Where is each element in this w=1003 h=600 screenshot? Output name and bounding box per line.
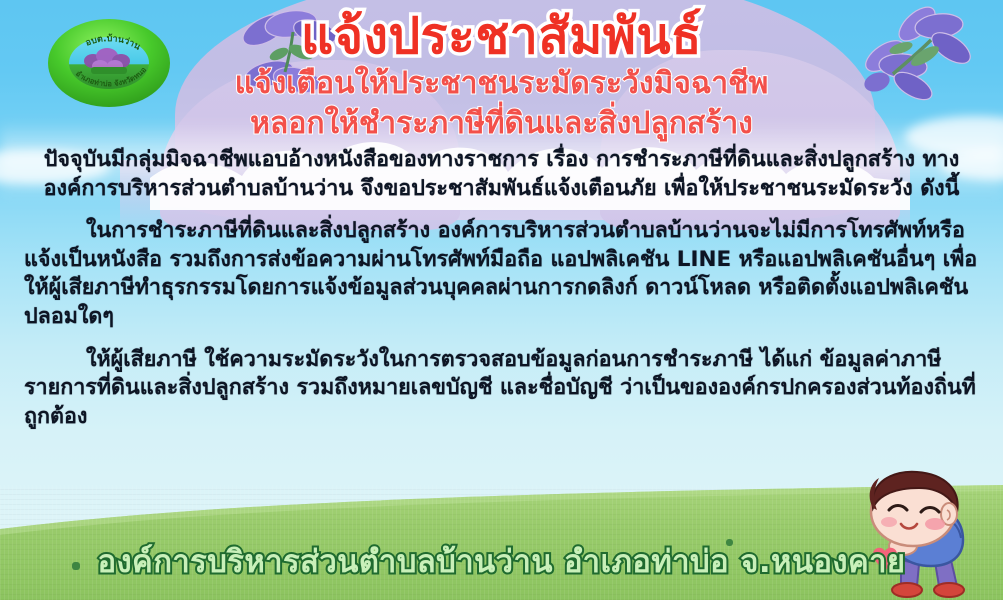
grass-speck-2 (726, 539, 733, 546)
purple-flower-left-icon (235, 2, 355, 112)
heart-icon (873, 548, 897, 570)
paragraph-warning: ในการชำระภาษีที่ดินและสิ่งปลูกสร้าง องค์… (24, 217, 979, 331)
purple-flower-right-icon (855, 0, 995, 130)
footer-organization: องค์การบริหารส่วนตำบลบ้านว่าน อำเภอท่าบ่… (0, 536, 1003, 586)
bowing-boy-illustration (839, 468, 1003, 600)
paragraph-intro: ปัจจุบันมีกลุ่มมิจฉาชีพแอบอ้างหนังสือของ… (24, 146, 979, 203)
grass-speck-1 (72, 562, 80, 570)
subtitle-line-2: หลอกให้ชำระภาษีที่ดินและสิ่งปลูกสร้าง (0, 105, 1003, 143)
body-content: ปัจจุบันมีกลุ่มมิจฉาชีพแอบอ้างหนังสือของ… (24, 146, 979, 445)
grass-texture (0, 485, 1003, 600)
grass-field (0, 465, 1003, 600)
announcement-poster: อบต.บ้านว่าน อำเภอท่าบ่อ จังหวัดหนองคาย (0, 0, 1003, 600)
paragraph-advice: ให้ผู้เสียภาษี ใช้ความระมัดระวังในการตรว… (24, 346, 979, 432)
logo-seal-icon: อบต.บ้านว่าน อำเภอท่าบ่อ จังหวัดหนองคาย (47, 17, 171, 109)
organization-logo: อบต.บ้านว่าน อำเภอท่าบ่อ จังหวัดหนองคาย (47, 17, 171, 109)
